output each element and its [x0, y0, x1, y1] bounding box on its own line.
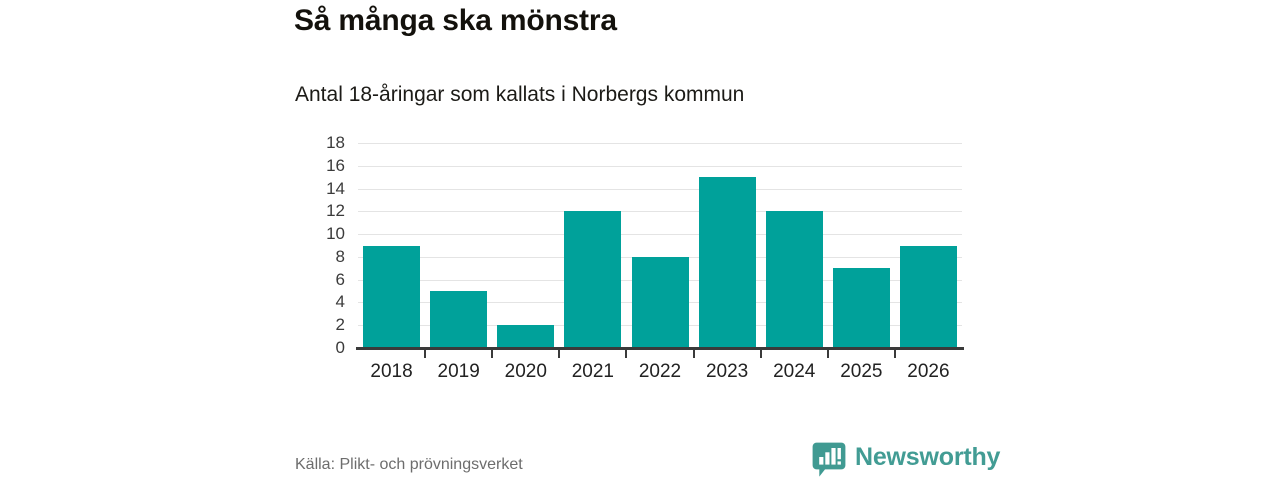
- y-axis-tick-label: 0: [300, 338, 345, 358]
- x-axis-tick-labels: 201820192020202120222023202420252026: [358, 361, 962, 387]
- x-axis-tickmark: [760, 350, 762, 358]
- x-axis-tick-label: 2018: [370, 361, 412, 383]
- x-axis-tickmark: [693, 350, 695, 358]
- source-note: Källa: Plikt- och prövningsverket: [295, 456, 523, 474]
- x-axis-tick-label: 2019: [438, 361, 480, 383]
- y-axis-tick-labels: 024681012141618: [300, 143, 345, 348]
- x-axis-tickmark: [827, 350, 829, 358]
- bar: [497, 325, 554, 348]
- y-axis-tick-label: 12: [300, 201, 345, 221]
- x-axis-tick-label: 2022: [639, 361, 681, 383]
- x-axis-tick-label: 2023: [706, 361, 748, 383]
- x-axis-tickmark: [558, 350, 560, 358]
- bar: [699, 177, 756, 348]
- x-axis-tickmarks: [358, 350, 962, 358]
- y-axis-tick-label: 6: [300, 270, 345, 290]
- bar-series: [358, 143, 962, 348]
- x-axis-tickmark: [894, 350, 896, 358]
- brand-wordmark: Newsworthy: [855, 443, 1000, 471]
- chart-figure: Så många ska mönstra Antal 18-åringar so…: [0, 0, 1280, 480]
- x-axis-tickmark: [491, 350, 493, 358]
- bar: [564, 211, 621, 348]
- y-axis-tick-label: 2: [300, 315, 345, 335]
- bar: [833, 268, 890, 348]
- bar: [766, 211, 823, 348]
- x-axis-tick-label: 2020: [505, 361, 547, 383]
- plot-area: [358, 143, 962, 348]
- x-axis-tick-label: 2024: [773, 361, 815, 383]
- y-axis-tick-label: 10: [300, 224, 345, 244]
- x-axis-tickmark: [424, 350, 426, 358]
- bar: [363, 246, 420, 349]
- brand-logo: Newsworthy: [812, 442, 1000, 478]
- bar: [430, 291, 487, 348]
- y-axis-tick-label: 18: [300, 133, 345, 153]
- y-axis-tick-label: 8: [300, 247, 345, 267]
- x-axis-tick-label: 2025: [840, 361, 882, 383]
- x-axis-tick-label: 2021: [572, 361, 614, 383]
- chart-title: Så många ska mönstra: [294, 4, 617, 38]
- bar: [900, 246, 957, 349]
- chart-subtitle: Antal 18-åringar som kallats i Norbergs …: [295, 83, 744, 107]
- bar-chart-speech-bubble-icon: [812, 442, 846, 478]
- y-axis-tick-label: 14: [300, 179, 345, 199]
- x-axis-tickmark: [625, 350, 627, 358]
- bar: [632, 257, 689, 348]
- x-axis-tick-label: 2026: [907, 361, 949, 383]
- y-axis-tick-label: 4: [300, 292, 345, 312]
- y-axis-tick-label: 16: [300, 156, 345, 176]
